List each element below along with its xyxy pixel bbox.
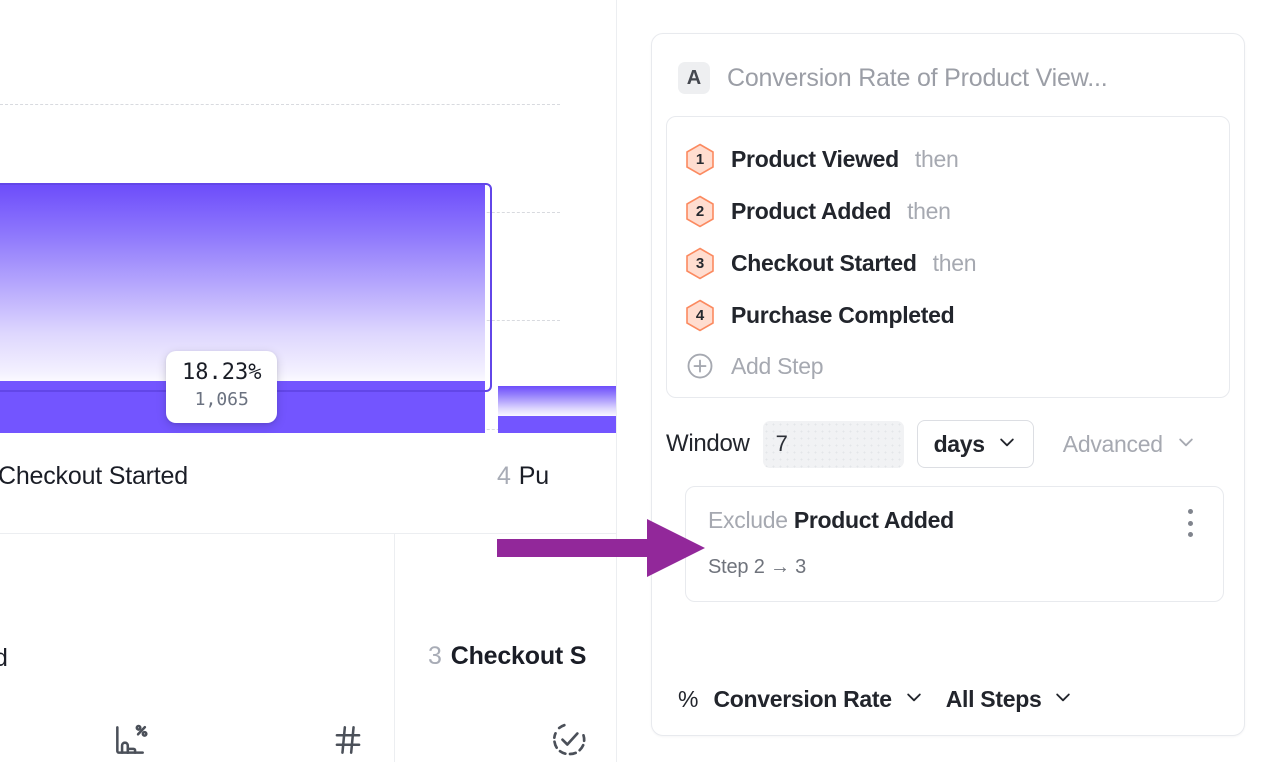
series-letter-badge: A bbox=[678, 62, 710, 94]
step-name: Product Viewed bbox=[731, 146, 899, 173]
dashed-circle-check-icon[interactable] bbox=[547, 717, 591, 761]
gridline bbox=[0, 104, 560, 105]
bar-tooltip: 18.23% 1,065 bbox=[166, 351, 277, 423]
steps-card: 1 Product Viewed then 2 Product Added th… bbox=[666, 116, 1230, 398]
lower-panel-label-checkout: 3Checkout S bbox=[428, 642, 586, 671]
step-row-2[interactable]: 2 Product Added then bbox=[667, 185, 1229, 237]
app-root: 18.23% 1,065 Checkout Started 4Pu d 3Che… bbox=[0, 0, 1264, 762]
step-name: Checkout Started bbox=[731, 250, 917, 277]
step-row-4[interactable]: 4 Purchase Completed bbox=[667, 289, 1229, 341]
chevron-down-icon bbox=[1176, 432, 1196, 457]
bar-chart-percent-icon[interactable] bbox=[108, 718, 152, 762]
metric-select[interactable]: Conversion Rate bbox=[713, 686, 923, 713]
steps-scope-label: All Steps bbox=[946, 686, 1042, 713]
step-name: Purchase Completed bbox=[731, 302, 954, 329]
tooltip-count: 1,065 bbox=[182, 388, 261, 412]
builder-title[interactable]: Conversion Rate of Product View... bbox=[727, 64, 1107, 93]
axis-label-text: Pu bbox=[519, 462, 549, 490]
step-connector: then bbox=[907, 198, 951, 225]
hash-icon[interactable] bbox=[326, 718, 370, 762]
conversion-window-row: Window days Advanced bbox=[652, 398, 1244, 468]
section-divider bbox=[0, 533, 617, 534]
window-value-input[interactable] bbox=[763, 421, 904, 468]
exclude-event-name: Product Added bbox=[794, 507, 954, 533]
builder-footer: % Conversion Rate All Steps bbox=[652, 686, 1099, 713]
chevron-down-icon bbox=[904, 687, 924, 712]
step-number: 2 bbox=[696, 204, 704, 219]
add-step-label: Add Step bbox=[731, 353, 823, 380]
funnel-bar-purchase-completed[interactable] bbox=[498, 386, 617, 433]
tooltip-percent: 18.23% bbox=[182, 360, 261, 386]
lower-panel-index: 3 bbox=[428, 642, 442, 670]
metric-label: Conversion Rate bbox=[713, 686, 891, 713]
lower-panel-text: d bbox=[0, 644, 8, 672]
axis-label-checkout-started: Checkout Started bbox=[0, 462, 188, 491]
step-number: 4 bbox=[696, 308, 704, 323]
step-number: 3 bbox=[696, 256, 704, 271]
hexagon-badge-icon: 4 bbox=[685, 299, 715, 332]
hexagon-badge-icon: 2 bbox=[685, 195, 715, 228]
lower-panel-label-left: d bbox=[0, 644, 8, 673]
plus-circle-icon bbox=[685, 351, 715, 381]
chevron-down-icon bbox=[1053, 687, 1073, 712]
pane-divider bbox=[616, 0, 617, 762]
axis-label-text: Checkout Started bbox=[0, 462, 188, 490]
axis-label-purchase-completed: 4Pu bbox=[497, 462, 549, 491]
advanced-toggle[interactable]: Advanced bbox=[1063, 431, 1196, 458]
step-name: Product Added bbox=[731, 198, 891, 225]
add-step-button[interactable]: Add Step bbox=[667, 341, 1229, 383]
percent-icon: % bbox=[678, 686, 698, 713]
chevron-down-icon bbox=[997, 432, 1017, 457]
funnel-chart-pane: 18.23% 1,065 Checkout Started 4Pu d 3Che… bbox=[0, 0, 617, 762]
bar-solid-segment bbox=[498, 416, 617, 433]
exclude-rule-card[interactable]: Exclude Product Added Step 2 → 3 bbox=[685, 486, 1224, 602]
step-row-3[interactable]: 3 Checkout Started then bbox=[667, 237, 1229, 289]
axis-label-index: 4 bbox=[497, 462, 511, 490]
exclude-rule-text: Exclude Product Added bbox=[708, 507, 1179, 534]
exclude-step-range: Step 2 → 3 bbox=[708, 556, 1201, 579]
window-unit-label: days bbox=[934, 431, 985, 458]
lower-section-divider bbox=[394, 534, 395, 762]
step-connector: then bbox=[933, 250, 977, 277]
bar-gradient-segment bbox=[498, 386, 617, 416]
advanced-label: Advanced bbox=[1063, 431, 1163, 458]
step-row-1[interactable]: 1 Product Viewed then bbox=[667, 133, 1229, 185]
steps-scope-select[interactable]: All Steps bbox=[946, 686, 1074, 713]
window-unit-select[interactable]: days bbox=[917, 420, 1034, 468]
hexagon-badge-icon: 1 bbox=[685, 143, 715, 176]
funnel-builder-panel: A Conversion Rate of Product View... 1 P… bbox=[651, 33, 1245, 736]
more-options-icon[interactable] bbox=[1179, 507, 1201, 537]
exclude-prefix: Exclude bbox=[708, 507, 788, 533]
builder-header: A Conversion Rate of Product View... bbox=[652, 34, 1244, 116]
hexagon-badge-icon: 3 bbox=[685, 247, 715, 280]
window-label: Window bbox=[666, 430, 750, 458]
step-number: 1 bbox=[696, 152, 704, 167]
lower-panel-text: Checkout S bbox=[451, 642, 587, 670]
exclude-rule-header: Exclude Product Added bbox=[708, 507, 1201, 537]
step-connector: then bbox=[915, 146, 959, 173]
